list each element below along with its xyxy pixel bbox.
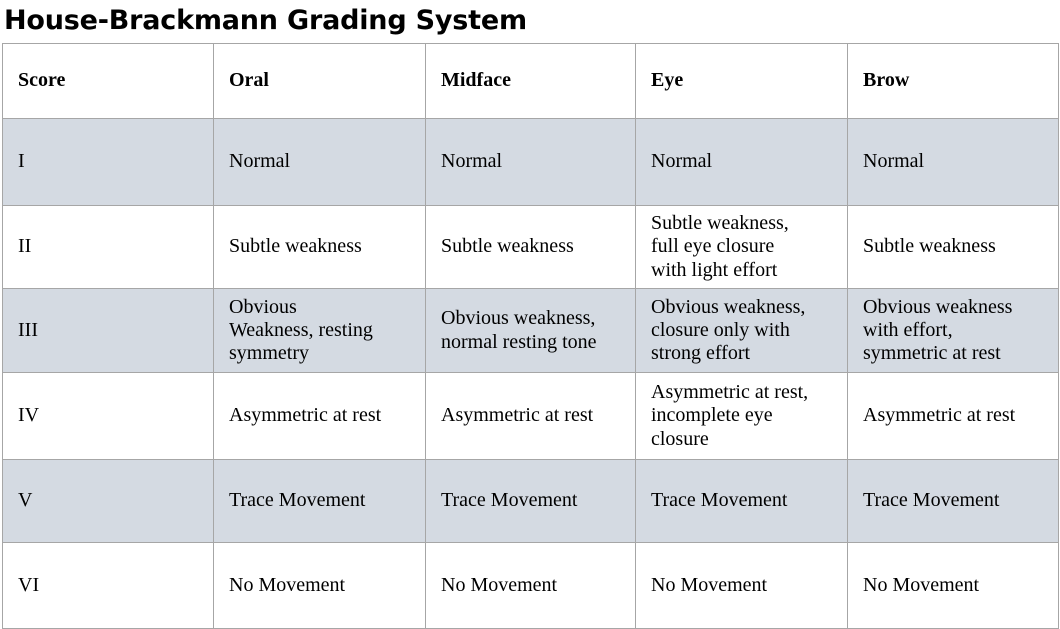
cell-oral: Obvious Weakness, resting symmetry — [214, 289, 426, 373]
page-root: House-Brackmann Grading System Score Ora… — [0, 0, 1060, 594]
table-row: IV Asymmetric at rest Asymmetric at rest… — [3, 373, 1059, 460]
cell-eye: Trace Movement — [636, 460, 848, 543]
cell-eye: Obvious weakness, closure only with stro… — [636, 289, 848, 373]
house-brackmann-grading-table: Score Oral Midface Eye Brow I Normal Nor… — [2, 43, 1059, 629]
column-header-eye: Eye — [636, 44, 848, 119]
cell-midface: Obvious weakness, normal resting tone — [426, 289, 636, 373]
column-header-midface: Midface — [426, 44, 636, 119]
table-header-row: Score Oral Midface Eye Brow — [3, 44, 1059, 119]
cell-eye: Asymmetric at rest, incomplete eye closu… — [636, 373, 848, 460]
table-row: VI No Movement No Movement No Movement N… — [3, 543, 1059, 629]
cell-eye: Subtle weakness, full eye closure with l… — [636, 206, 848, 289]
table-header: Score Oral Midface Eye Brow — [3, 44, 1059, 119]
cell-eye: No Movement — [636, 543, 848, 629]
column-header-oral: Oral — [214, 44, 426, 119]
cell-oral: Trace Movement — [214, 460, 426, 543]
cell-oral: Asymmetric at rest — [214, 373, 426, 460]
table-row: II Subtle weakness Subtle weakness Subtl… — [3, 206, 1059, 289]
cell-brow: Subtle weakness — [848, 206, 1059, 289]
cell-score: II — [3, 206, 214, 289]
cell-brow: Normal — [848, 119, 1059, 206]
cell-brow: No Movement — [848, 543, 1059, 629]
cell-oral: No Movement — [214, 543, 426, 629]
cell-midface: No Movement — [426, 543, 636, 629]
cell-score: I — [3, 119, 214, 206]
cell-midface: Asymmetric at rest — [426, 373, 636, 460]
column-header-brow: Brow — [848, 44, 1059, 119]
cell-oral: Normal — [214, 119, 426, 206]
table-body: I Normal Normal Normal Normal II Subtle … — [3, 119, 1059, 629]
table-row: V Trace Movement Trace Movement Trace Mo… — [3, 460, 1059, 543]
cell-score: IV — [3, 373, 214, 460]
cell-eye: Normal — [636, 119, 848, 206]
grading-table-container: Score Oral Midface Eye Brow I Normal Nor… — [2, 43, 1058, 592]
table-row: III Obvious Weakness, resting symmetry O… — [3, 289, 1059, 373]
page-title: House-Brackmann Grading System — [4, 2, 527, 40]
cell-midface: Subtle weakness — [426, 206, 636, 289]
cell-score: V — [3, 460, 214, 543]
cell-brow: Asymmetric at rest — [848, 373, 1059, 460]
cell-midface: Normal — [426, 119, 636, 206]
cell-brow: Trace Movement — [848, 460, 1059, 543]
column-header-score: Score — [3, 44, 214, 119]
cell-score: VI — [3, 543, 214, 629]
table-row: I Normal Normal Normal Normal — [3, 119, 1059, 206]
cell-brow: Obvious weakness with effort, symmetric … — [848, 289, 1059, 373]
cell-oral: Subtle weakness — [214, 206, 426, 289]
cell-score: III — [3, 289, 214, 373]
cell-midface: Trace Movement — [426, 460, 636, 543]
